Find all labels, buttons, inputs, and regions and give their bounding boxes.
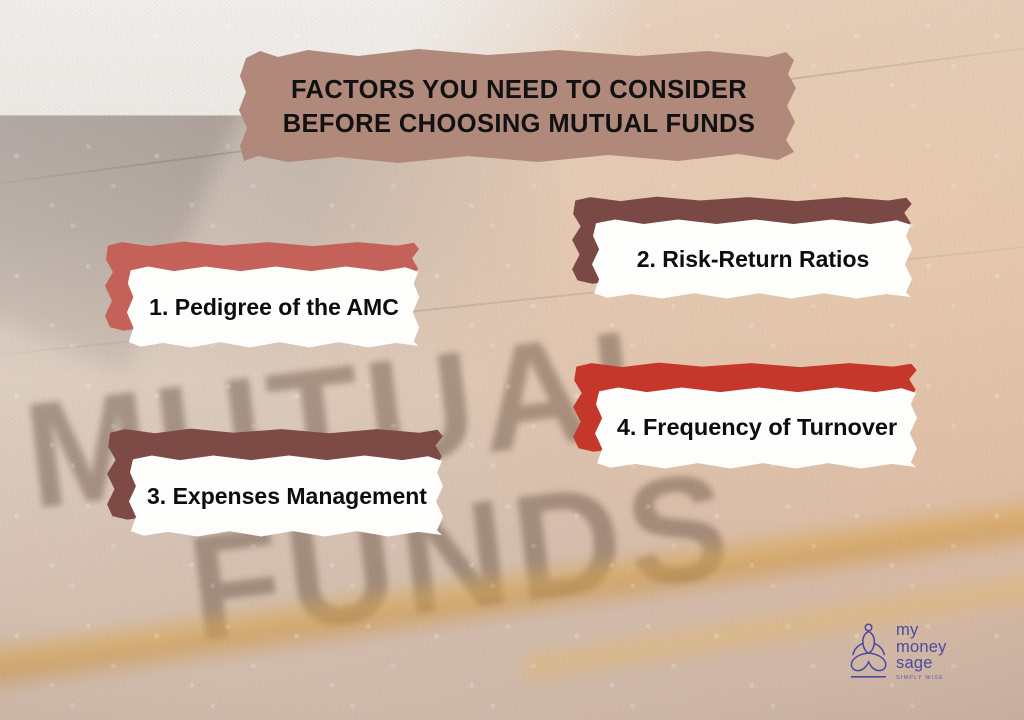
factor-card-3[interactable]: 3. Expenses Management xyxy=(106,428,446,538)
factor-card-1[interactable]: 1. Pedigree of the AMC xyxy=(104,241,422,349)
brand-word-sage: sage xyxy=(896,655,947,672)
factor-card-3-label: 3. Expenses Management xyxy=(128,454,446,538)
title-text-block: FACTORS YOU NEED TO CONSIDER BEFORE CHOO… xyxy=(238,48,800,166)
factor-card-4-label: 4. Frequency of Turnover xyxy=(594,386,920,470)
brand-logo[interactable]: my money sage SIMPLY WISE xyxy=(848,616,964,688)
meditating-figure-icon xyxy=(848,621,888,683)
brand-word-money: money xyxy=(896,639,947,656)
brand-wordmark: my money sage SIMPLY WISE xyxy=(896,622,947,681)
title-banner: FACTORS YOU NEED TO CONSIDER BEFORE CHOO… xyxy=(238,48,800,166)
factor-card-2[interactable]: 2. Risk-Return Ratios xyxy=(571,196,915,300)
poster-canvas: MUTUAL FUNDS FACTORS YOU NEED TO CONSIDE… xyxy=(0,0,1024,720)
factor-card-2-label: 2. Risk-Return Ratios xyxy=(591,218,915,300)
factor-card-1-label: 1. Pedigree of the AMC xyxy=(126,265,422,349)
factor-card-4[interactable]: 4. Frequency of Turnover xyxy=(572,362,920,470)
title-line-1: FACTORS YOU NEED TO CONSIDER xyxy=(291,75,747,105)
brand-tagline: SIMPLY WISE xyxy=(896,676,947,682)
title-line-2: BEFORE CHOOSING MUTUAL FUNDS xyxy=(283,109,756,139)
brand-word-my: my xyxy=(896,622,947,639)
